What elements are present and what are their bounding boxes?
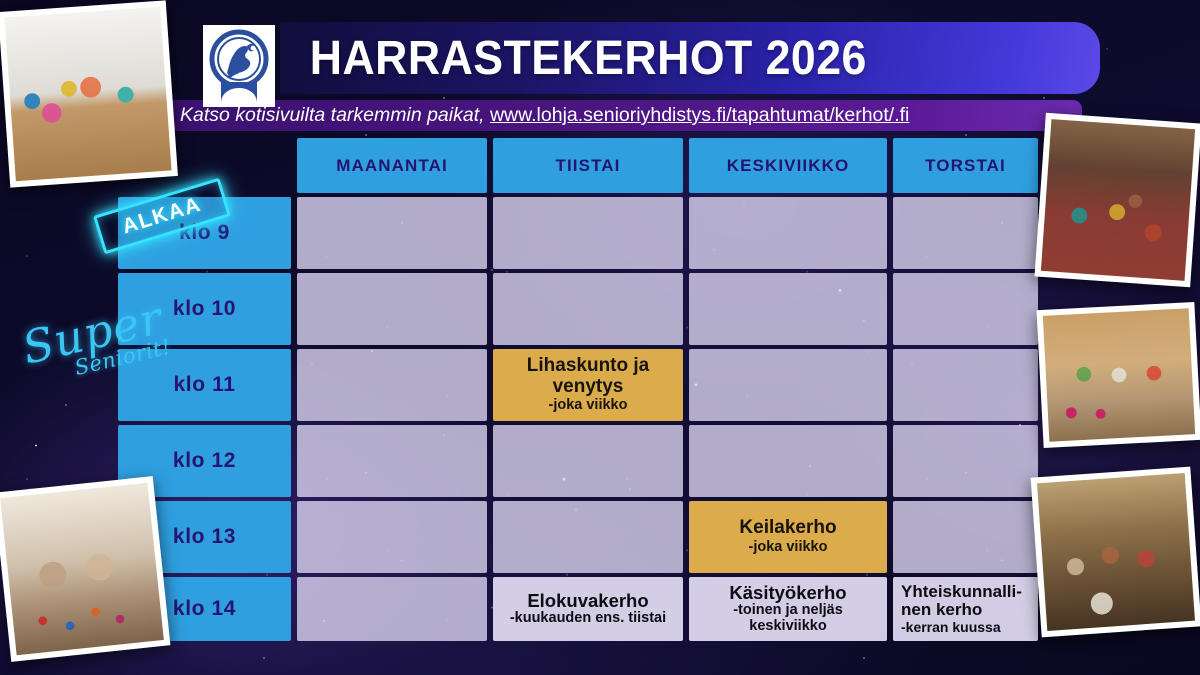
slot-tiistai-klo-13[interactable] xyxy=(493,501,683,573)
photo-crafting-image xyxy=(0,483,164,656)
slot-maanantai-klo-10[interactable] xyxy=(297,273,487,345)
event-frequency: -joka viikko xyxy=(549,398,628,414)
slot-keskiviikko-klo-9[interactable] xyxy=(689,197,887,269)
event-frequency: -kuukauden ens. tiistai xyxy=(510,611,666,627)
day-header-label: MAANANTAI xyxy=(336,156,448,176)
time-label: klo 12 xyxy=(173,449,236,473)
slot-torstai-klo-13[interactable] xyxy=(893,501,1038,573)
slot-torstai-klo-10[interactable] xyxy=(893,273,1038,345)
photo-cinema-image xyxy=(1041,119,1195,281)
photo-seniors-exercise-class xyxy=(0,0,178,187)
time-label: klo 10 xyxy=(173,297,236,321)
slot-maanantai-klo-13[interactable] xyxy=(297,501,487,573)
photo-bowling-image xyxy=(1043,308,1195,441)
event-title: Käsityökerho xyxy=(729,583,846,602)
time-label: klo 11 xyxy=(174,373,236,397)
slot-torstai-klo-9[interactable] xyxy=(893,197,1038,269)
slot-tiistai-klo-12[interactable] xyxy=(493,425,683,497)
event-lihaskunto-ja-venytys[interactable]: Lihaskunto ja venytys -joka viikko xyxy=(493,349,683,421)
slot-keskiviikko-klo-12[interactable] xyxy=(689,425,887,497)
event-title: Yhteiskunnalli-nen kerho xyxy=(901,583,1033,619)
photo-cafe-image xyxy=(1037,473,1195,631)
slot-keskiviikko-klo-10[interactable] xyxy=(689,273,887,345)
organization-lion-logo xyxy=(203,25,275,107)
event-frequency: -kerran kuussa xyxy=(901,620,1001,635)
day-header-keskiviikko: KESKIVIIKKO xyxy=(689,138,887,193)
time-label: klo 14 xyxy=(173,597,236,621)
event-frequency: -toinen ja neljäs keskiviikko xyxy=(694,603,882,635)
event-elokuvakerho[interactable]: Elokuvakerho -kuukauden ens. tiistai xyxy=(493,577,683,641)
day-header-label: TIISTAI xyxy=(556,156,621,176)
photo-seniors-bowling xyxy=(1036,302,1200,448)
subtitle-text: Katso kotisivuilta tarkemmin paikat, www… xyxy=(170,104,909,127)
slot-maanantai-klo-14[interactable] xyxy=(297,577,487,641)
time-label: klo 13 xyxy=(173,525,236,549)
slot-maanantai-klo-11[interactable] xyxy=(297,349,487,421)
slot-maanantai-klo-12[interactable] xyxy=(297,425,487,497)
slot-torstai-klo-12[interactable] xyxy=(893,425,1038,497)
event-title: Keilakerho xyxy=(739,518,836,538)
slot-tiistai-klo-9[interactable] xyxy=(493,197,683,269)
title-banner: HARRASTEKERHOT 2026 xyxy=(280,22,1100,94)
subtitle-lead: Katso kotisivuilta tarkemmin paikat, xyxy=(180,104,490,126)
photo-seniors-cinema xyxy=(1034,113,1200,287)
photo-exercise-image xyxy=(4,7,171,181)
event-keilakerho[interactable]: Keilakerho -joka viikko xyxy=(689,501,887,573)
slot-keskiviikko-klo-11[interactable] xyxy=(689,349,887,421)
page-title: HARRASTEKERHOT 2026 xyxy=(280,31,867,86)
day-header-tiistai: TIISTAI xyxy=(493,138,683,193)
event-frequency: -joka viikko xyxy=(749,540,828,556)
day-header-label: KESKIVIIKKO xyxy=(727,156,850,176)
event-kasityokerho[interactable]: Käsityökerho -toinen ja neljäs keskiviik… xyxy=(689,577,887,641)
day-header-maanantai: MAANANTAI xyxy=(297,138,487,193)
day-header-torstai: TORSTAI xyxy=(893,138,1038,193)
slot-tiistai-klo-10[interactable] xyxy=(493,273,683,345)
event-title: Elokuvakerho xyxy=(527,591,648,610)
event-title: Lihaskunto ja venytys xyxy=(497,356,679,396)
website-link[interactable]: www.lohja.senioriyhdistys.fi/tapahtumat/… xyxy=(490,104,909,126)
slot-torstai-klo-11[interactable] xyxy=(893,349,1038,421)
photo-seniors-crafting xyxy=(0,476,170,662)
photo-seniors-cafe-gathering xyxy=(1031,467,1200,638)
day-header-label: TORSTAI xyxy=(925,156,1006,176)
poster-canvas: HARRASTEKERHOT 2026 Katso kotisivuilta t… xyxy=(0,0,1200,675)
schedule-grid: MAANANTAI TIISTAI KESKIVIIKKO TORSTAI kl… xyxy=(118,138,1078,633)
event-yhteiskunnallinen-kerho[interactable]: Yhteiskunnalli-nen kerho -kerran kuussa xyxy=(893,577,1038,641)
slot-maanantai-klo-9[interactable] xyxy=(297,197,487,269)
subtitle-banner: Katso kotisivuilta tarkemmin paikat, www… xyxy=(170,100,1082,131)
